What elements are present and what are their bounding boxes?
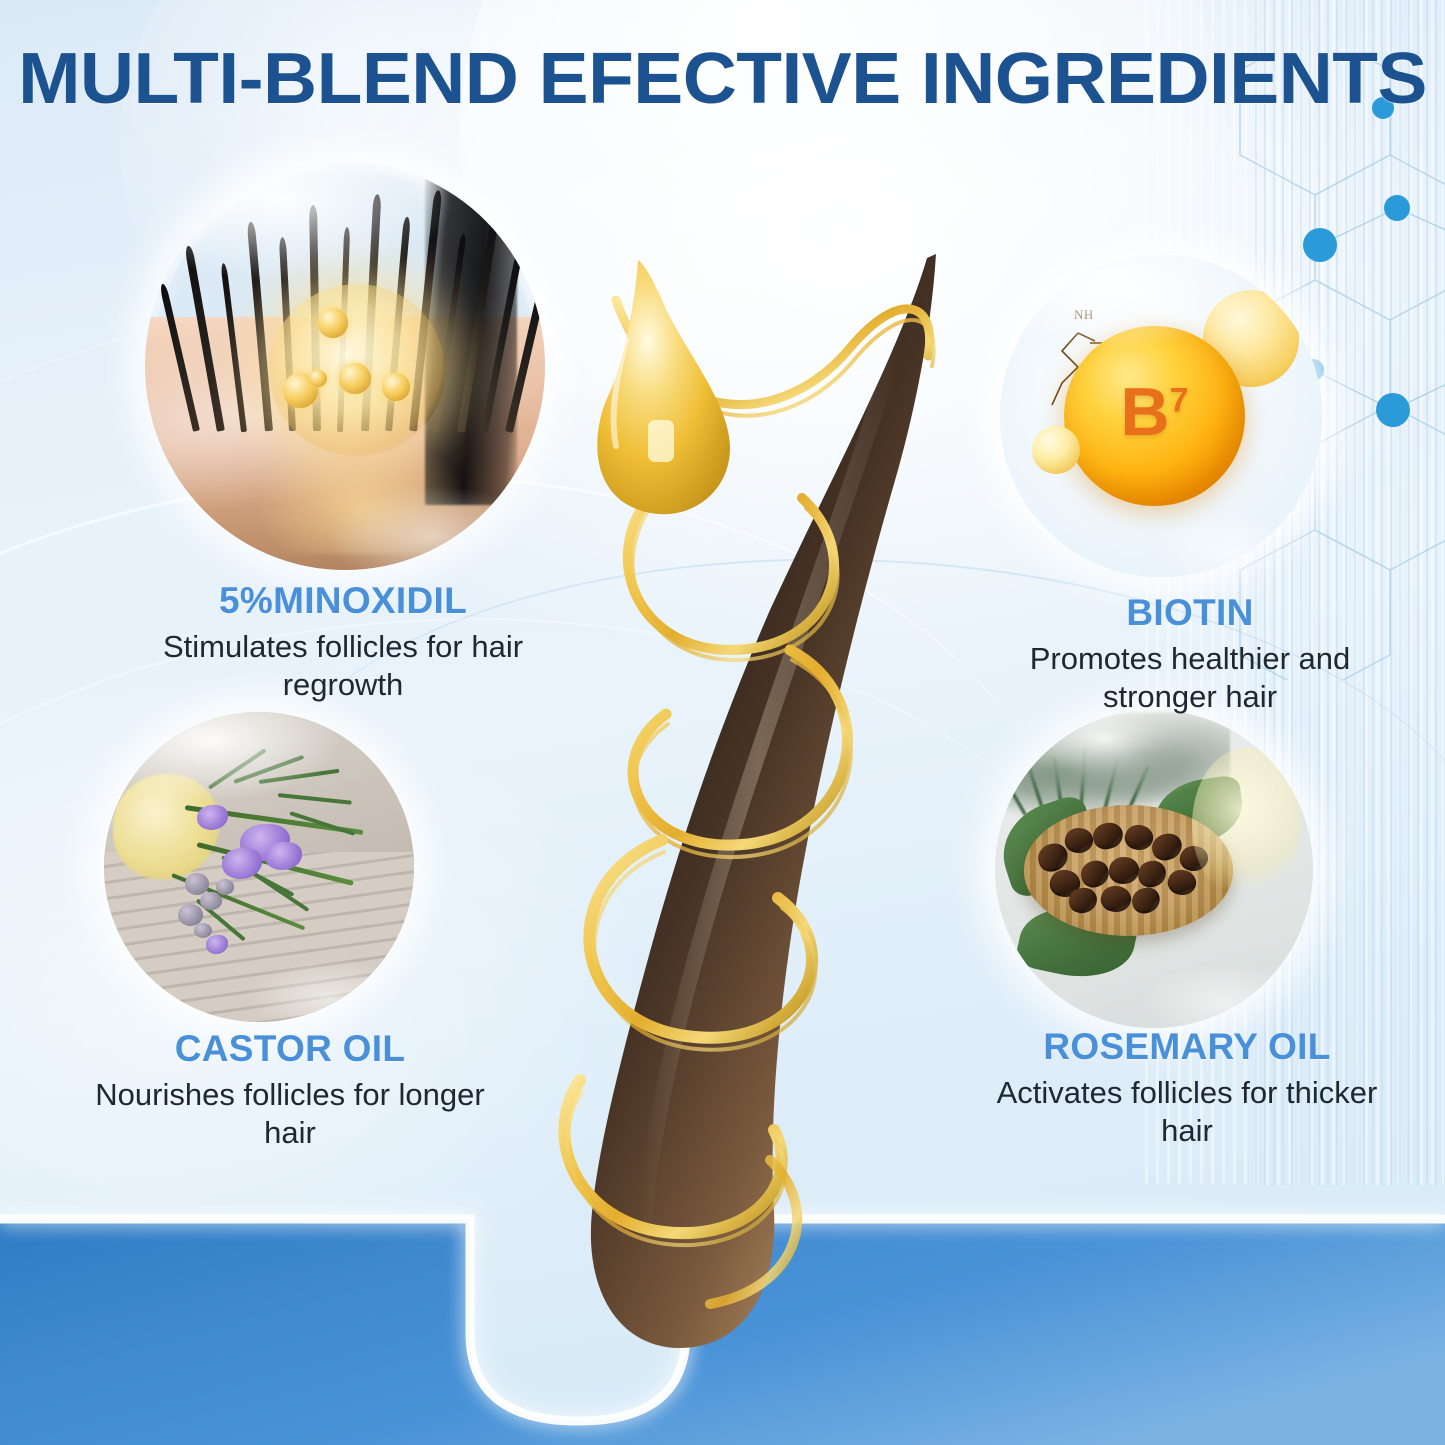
hair-highlight (642, 330, 900, 1240)
droplet-highlight (648, 420, 674, 462)
infographic-stage: MULTI-BLEND EFECTIVE INGREDIENTS (0, 0, 1445, 1445)
ingredient-image-castor (104, 712, 414, 1022)
ingredient-image-rosemary (995, 710, 1313, 1028)
vitamin-label: B7 (1064, 373, 1244, 451)
scalp-skin-layer (0, 1219, 1445, 1445)
oil-glow-highlight (1192, 748, 1300, 901)
ingredient-title-biotin: BIOTIN (975, 592, 1405, 634)
ingredient-image-biotin: NH H COOH B7 (1000, 255, 1322, 577)
ingredient-description-castor: Nourishes follicles for longer hair (75, 1076, 505, 1152)
oil-ribbon-group (564, 300, 933, 1304)
ingredient-image-minoxidil (145, 162, 545, 570)
ingredient-description-rosemary: Activates follicles for thicker hair (972, 1074, 1402, 1150)
ingredient-description-minoxidil: Stimulates follicles for hair regrowth (128, 628, 558, 704)
page-title: MULTI-BLEND EFECTIVE INGREDIENTS (0, 38, 1445, 120)
ingredient-caption-rosemary: ROSEMARY OIL Activates follicles for thi… (972, 1026, 1402, 1150)
ingredient-caption-castor: CASTOR OIL Nourishes follicles for longe… (75, 1028, 505, 1152)
oil-droplet (597, 260, 730, 514)
ingredient-title-minoxidil: 5%MINOXIDIL (128, 580, 558, 622)
ingredient-caption-biotin: BIOTIN Promotes healthier and stronger h… (975, 592, 1405, 716)
ingredient-title-rosemary: ROSEMARY OIL (972, 1026, 1402, 1068)
vitamin-b7-sphere: B7 (1064, 326, 1244, 506)
ingredient-caption-minoxidil: 5%MINOXIDIL Stimulates follicles for hai… (128, 580, 558, 704)
ingredient-title-castor: CASTOR OIL (75, 1028, 505, 1070)
minoxidil-molecule-droplet (269, 284, 445, 455)
scalp-cross-section (0, 1183, 1445, 1445)
golden-sparkle (257, 431, 465, 553)
ingredient-description-biotin: Promotes healthier and stronger hair (975, 640, 1405, 716)
